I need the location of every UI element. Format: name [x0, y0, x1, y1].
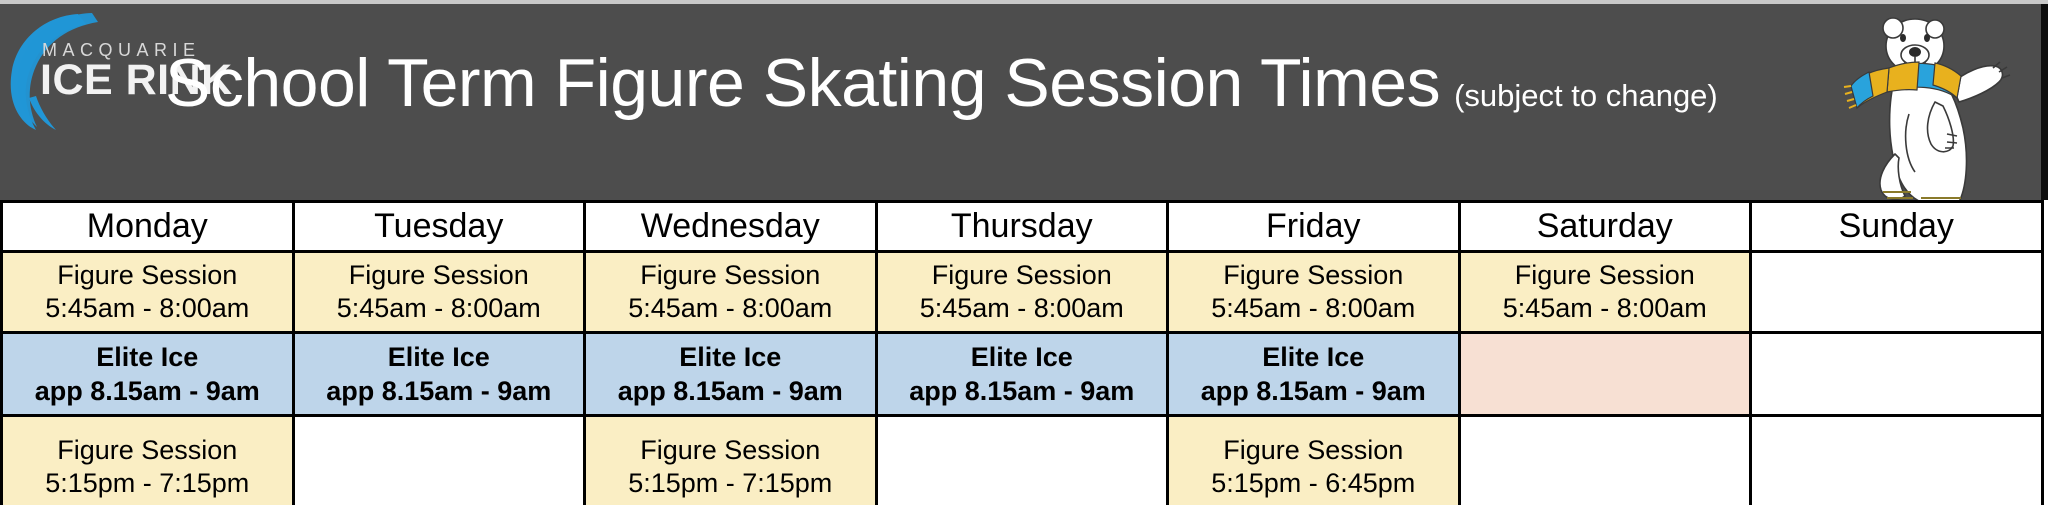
session-time: 5:45am - 8:00am [295, 292, 584, 325]
session-title: Elite Ice [1169, 340, 1458, 374]
session-time: 5:15pm - 7:15pm [586, 467, 875, 500]
session-cell[interactable]: Elite Ice app 8.15am - 9am [293, 333, 585, 416]
page-subtitle: (subject to change) [1440, 61, 1718, 131]
session-title: Figure Session [878, 259, 1167, 292]
session-title: Elite Ice [3, 340, 292, 374]
session-cell-empty[interactable] [1751, 333, 2043, 416]
session-cell[interactable]: Elite Ice app 8.15am - 9am [876, 333, 1168, 416]
session-cell[interactable]: Figure Session 5:45am - 8:00am [876, 252, 1168, 333]
session-time: app 8.15am - 9am [586, 374, 875, 408]
day-header-row: Monday Tuesday Wednesday Thursday Friday… [2, 202, 2043, 252]
schedule-page: MACQUARIE ICE RINK School Term Figure Sk… [0, 0, 2048, 505]
session-title: Figure Session [295, 259, 584, 292]
day-header-wednesday: Wednesday [585, 202, 877, 252]
session-title: Elite Ice [295, 340, 584, 374]
session-time: 5:45am - 8:00am [878, 292, 1167, 325]
session-title: Figure Session [3, 434, 292, 467]
session-title: Elite Ice [586, 340, 875, 374]
session-cell-empty[interactable] [293, 416, 585, 505]
session-title: Figure Session [1169, 259, 1458, 292]
session-title: Elite Ice [878, 340, 1167, 374]
session-cell-empty[interactable] [1751, 416, 2043, 505]
session-title: Figure Session [586, 259, 875, 292]
schedule-row-elite-ice: Elite Ice app 8.15am - 9am Elite Ice app… [2, 333, 2043, 416]
session-time: 5:15pm - 7:15pm [3, 467, 292, 500]
session-title: Figure Session [1169, 434, 1458, 467]
session-cell[interactable]: Figure Session 5:15pm - 7:15pm [2, 416, 294, 505]
day-header-tuesday: Tuesday [293, 202, 585, 252]
session-cell[interactable]: Elite Ice app 8.15am - 9am [2, 333, 294, 416]
page-title: School Term Figure Skating Session Times [165, 48, 1440, 118]
session-time: 5:45am - 8:00am [3, 292, 292, 325]
session-time: 5:15pm - 6:45pm [1169, 467, 1458, 500]
session-cell-empty[interactable] [1459, 416, 1751, 505]
schedule-row-morning-figure-session: Figure Session 5:45am - 8:00am Figure Se… [2, 252, 2043, 333]
schedule-table: Monday Tuesday Wednesday Thursday Friday… [0, 200, 2044, 505]
session-time: app 8.15am - 9am [3, 374, 292, 408]
session-title: Figure Session [1461, 259, 1750, 292]
day-header-saturday: Saturday [1459, 202, 1751, 252]
session-title: Figure Session [586, 434, 875, 467]
header-banner: MACQUARIE ICE RINK School Term Figure Sk… [0, 4, 2041, 200]
session-cell[interactable]: Figure Session 5:45am - 8:00am [293, 252, 585, 333]
session-cell[interactable]: Figure Session 5:15pm - 6:45pm [1168, 416, 1460, 505]
day-header-thursday: Thursday [876, 202, 1168, 252]
polar-bear-mascot-icon [1843, 6, 2041, 200]
session-cell[interactable]: Figure Session 5:45am - 8:00am [1459, 252, 1751, 333]
session-title: Figure Session [3, 259, 292, 292]
day-header-sunday: Sunday [1751, 202, 2043, 252]
schedule-body: Figure Session 5:45am - 8:00am Figure Se… [2, 252, 2043, 505]
session-cell-highlight[interactable] [1459, 333, 1751, 416]
session-cell[interactable]: Figure Session 5:45am - 8:00am [585, 252, 877, 333]
session-time: app 8.15am - 9am [878, 374, 1167, 408]
session-cell[interactable]: Figure Session 5:45am - 8:00am [1168, 252, 1460, 333]
session-time: app 8.15am - 9am [1169, 374, 1458, 408]
schedule-table-wrapper: Monday Tuesday Wednesday Thursday Friday… [0, 200, 2041, 505]
session-time: 5:45am - 8:00am [1169, 292, 1458, 325]
session-time: app 8.15am - 9am [295, 374, 584, 408]
banner-right-edge [2041, 4, 2048, 200]
session-cell[interactable]: Figure Session 5:45am - 8:00am [2, 252, 294, 333]
session-cell-empty[interactable] [876, 416, 1168, 505]
session-cell[interactable]: Elite Ice app 8.15am - 9am [1168, 333, 1460, 416]
session-cell[interactable]: Figure Session 5:15pm - 7:15pm [585, 416, 877, 505]
header-title-group: School Term Figure Skating Session Times… [165, 48, 1718, 131]
session-cell[interactable]: Elite Ice app 8.15am - 9am [585, 333, 877, 416]
day-header-monday: Monday [2, 202, 294, 252]
session-time: 5:45am - 8:00am [586, 292, 875, 325]
session-time: 5:45am - 8:00am [1461, 292, 1750, 325]
session-cell-empty[interactable] [1751, 252, 2043, 333]
schedule-row-afternoon-figure-session: Figure Session 5:15pm - 7:15pm Figure Se… [2, 416, 2043, 505]
day-header-friday: Friday [1168, 202, 1460, 252]
